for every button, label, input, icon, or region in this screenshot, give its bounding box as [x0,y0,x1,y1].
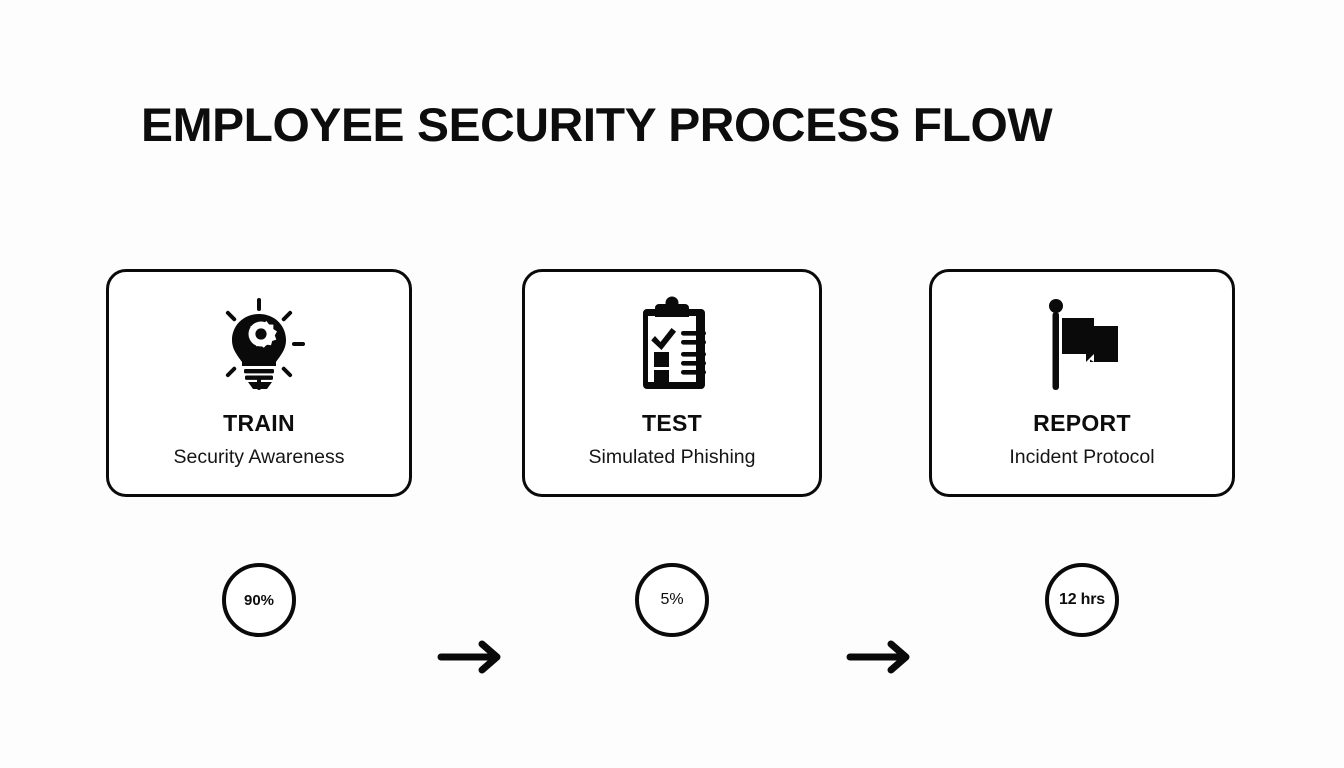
metric-value: 90% [244,593,274,608]
metric-value: 5% [660,592,683,608]
metric-badge-test: 5% [635,563,709,637]
process-step-card-report[interactable]: REPORT Incident Protocol [929,269,1235,497]
step-subtitle: Security Awareness [174,448,345,468]
step-title: TEST [642,412,702,435]
arrow-right-icon [846,639,916,675]
page-title: EMPLOYEE SECURITY PROCESS FLOW [141,101,1052,148]
metric-badge-train: 90% [222,563,296,637]
process-step-card-test[interactable]: TEST Simulated Phishing [522,269,822,497]
step-subtitle: Simulated Phishing [589,448,756,468]
flag-icon [1034,294,1130,394]
step-title: TRAIN [223,412,295,435]
lightbulb-gear-icon [211,294,307,394]
metric-value: 12 hrs [1059,592,1105,608]
process-flow-row: TRAIN Security Awareness [0,269,1344,499]
step-subtitle: Incident Protocol [1009,448,1154,468]
step-title: REPORT [1033,412,1131,435]
arrow-right-icon [437,639,507,675]
clipboard-checklist-icon [626,294,718,394]
process-step-card-train[interactable]: TRAIN Security Awareness [106,269,412,497]
metric-badge-report: 12 hrs [1045,563,1119,637]
